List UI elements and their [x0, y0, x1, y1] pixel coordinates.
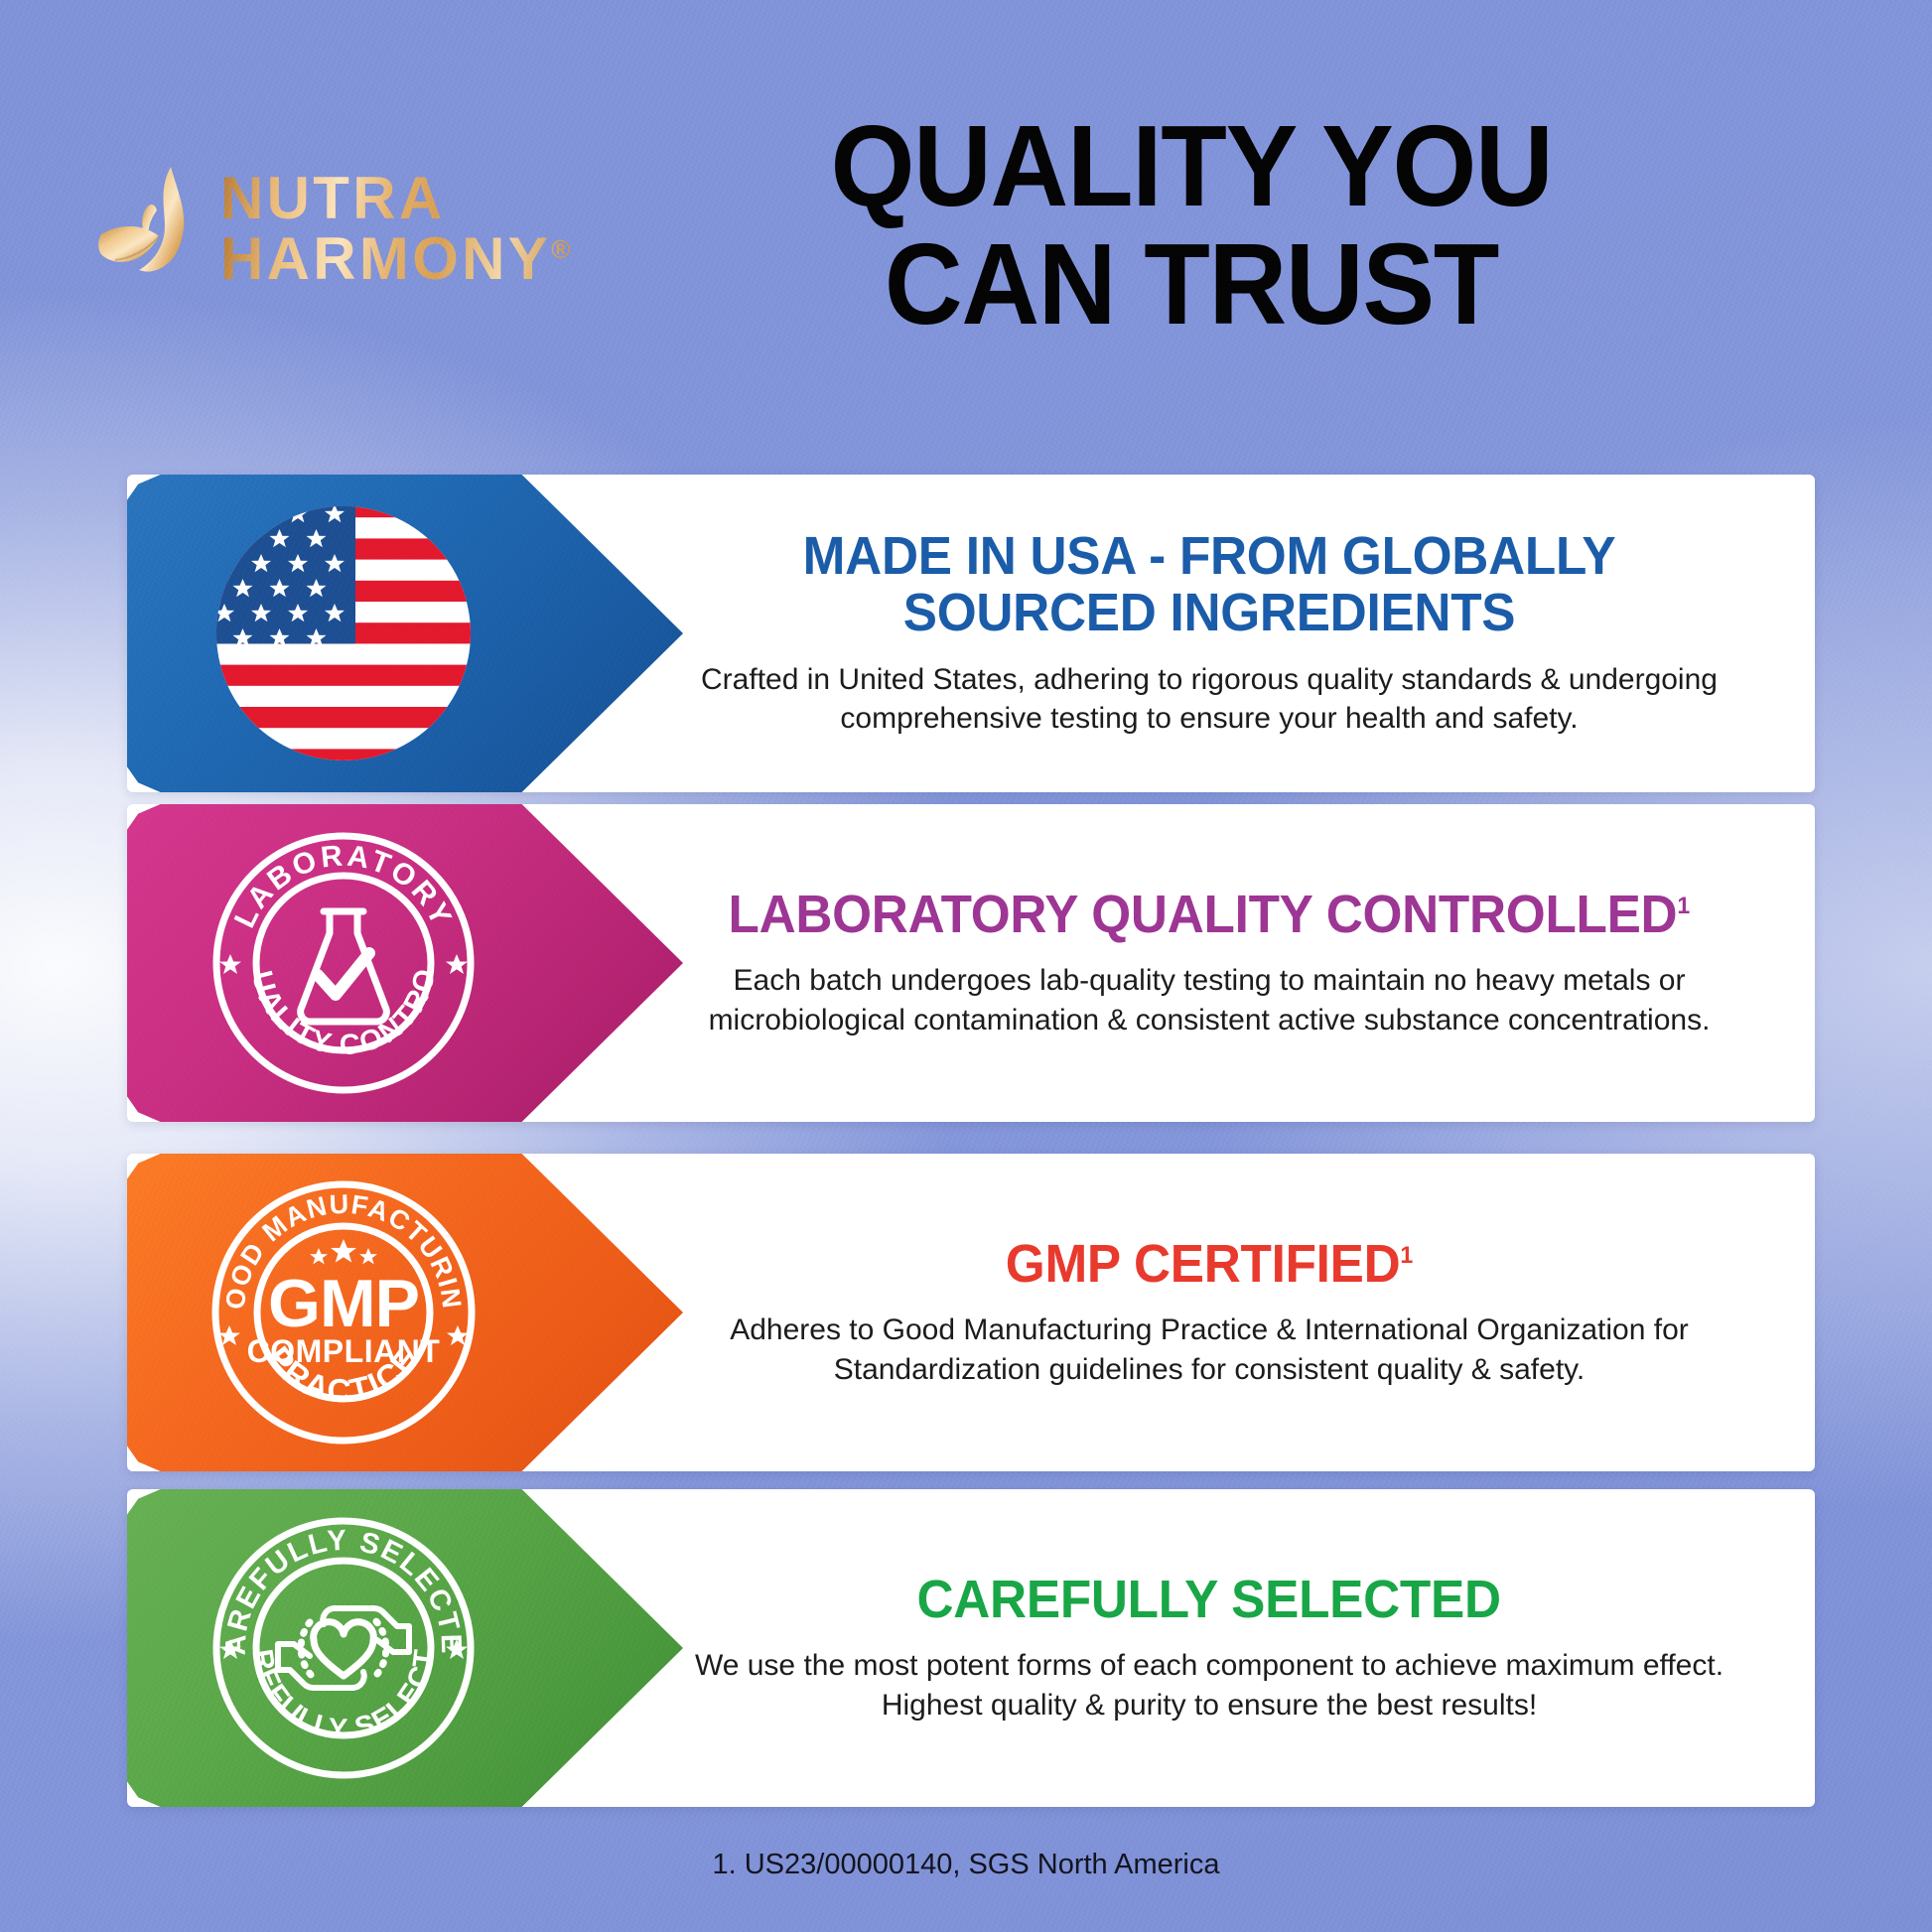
- infographic-poster: NUTRA HARMONY® QUALITY YOU CAN TRUST: [0, 0, 1932, 1932]
- card-body: We use the most potent forms of each com…: [668, 1646, 1750, 1725]
- registered-mark: ®: [551, 234, 570, 264]
- card-heading-text: GMP CERTIFIED: [1006, 1234, 1401, 1294]
- brand-logo: NUTRA HARMONY®: [95, 149, 691, 308]
- card-text: GMP CERTIFIED1 Adheres to Good Manufactu…: [643, 1154, 1775, 1471]
- hands-heart-seal-icon: CAREFULLY SELECTED CAREFULLY SELECTED: [207, 1511, 481, 1785]
- card-heading: LABORATORY QUALITY CONTROLLED1: [729, 887, 1690, 943]
- card-badge-area: CAREFULLY SELECTED CAREFULLY SELECTED: [127, 1489, 683, 1807]
- card-badge-area: [127, 475, 683, 792]
- page-title-line-2: CAN TRUST: [725, 225, 1658, 344]
- laboratory-flask-seal-icon: LABORATORY QUALITY CONTROL: [207, 826, 481, 1100]
- card-body: Adheres to Good Manufacturing Practice &…: [668, 1311, 1750, 1389]
- card-badge-area: GOOD MANUFACTURING PRACTICE GMP COMPLIAN…: [127, 1154, 683, 1471]
- badge-center-line-2: COMPLIANT: [247, 1333, 441, 1369]
- card-text: CAREFULLY SELECTED We use the most poten…: [643, 1489, 1775, 1807]
- page-title-line-1: QUALITY YOU: [725, 107, 1658, 225]
- card-heading: GMP CERTIFIED1: [1006, 1236, 1413, 1293]
- badge-center-line-1: GMP: [268, 1266, 419, 1341]
- footnote: 1. US23/00000140, SGS North America: [0, 1849, 1932, 1881]
- card-body: Each batch undergoes lab-quality testing…: [668, 961, 1750, 1039]
- card-heading-superscript: 1: [1678, 893, 1691, 919]
- poster-header: NUTRA HARMONY® QUALITY YOU CAN TRUST: [0, 0, 1932, 377]
- page-title: QUALITY YOU CAN TRUST: [725, 107, 1658, 345]
- card-text: LABORATORY QUALITY CONTROLLED1 Each batc…: [643, 804, 1775, 1122]
- card-badge-area: LABORATORY QUALITY CONTROL: [127, 804, 683, 1122]
- svg-text:LABORATORY: LABORATORY: [228, 839, 459, 932]
- leaf-flame-icon: [95, 159, 205, 298]
- feature-card-laboratory: LABORATORY QUALITY CONTROL LABORATORY QU…: [127, 804, 1815, 1122]
- logo-line-2: HARMONY®: [220, 231, 570, 286]
- logo-line-1: NUTRA: [220, 171, 570, 225]
- gmp-compliant-seal-icon: GOOD MANUFACTURING PRACTICE GMP COMPLIAN…: [207, 1175, 481, 1449]
- usa-flag-circle-icon: [207, 496, 481, 770]
- badge-arc-top: LABORATORY: [228, 839, 459, 932]
- card-heading: MADE IN USA - FROM GLOBALLY SOURCED INGR…: [672, 528, 1747, 641]
- feature-card-carefully-selected: CAREFULLY SELECTED CAREFULLY SELECTED: [127, 1489, 1815, 1807]
- feature-card-made-in-usa: MADE IN USA - FROM GLOBALLY SOURCED INGR…: [127, 475, 1815, 792]
- card-body: Crafted in United States, adhering to ri…: [668, 660, 1750, 739]
- card-heading-text: LABORATORY QUALITY CONTROLLED: [729, 885, 1678, 944]
- card-text: MADE IN USA - FROM GLOBALLY SOURCED INGR…: [643, 475, 1775, 792]
- card-heading: CAREFULLY SELECTED: [917, 1572, 1501, 1628]
- feature-card-gmp: GOOD MANUFACTURING PRACTICE GMP COMPLIAN…: [127, 1154, 1815, 1471]
- card-heading-superscript: 1: [1401, 1242, 1414, 1269]
